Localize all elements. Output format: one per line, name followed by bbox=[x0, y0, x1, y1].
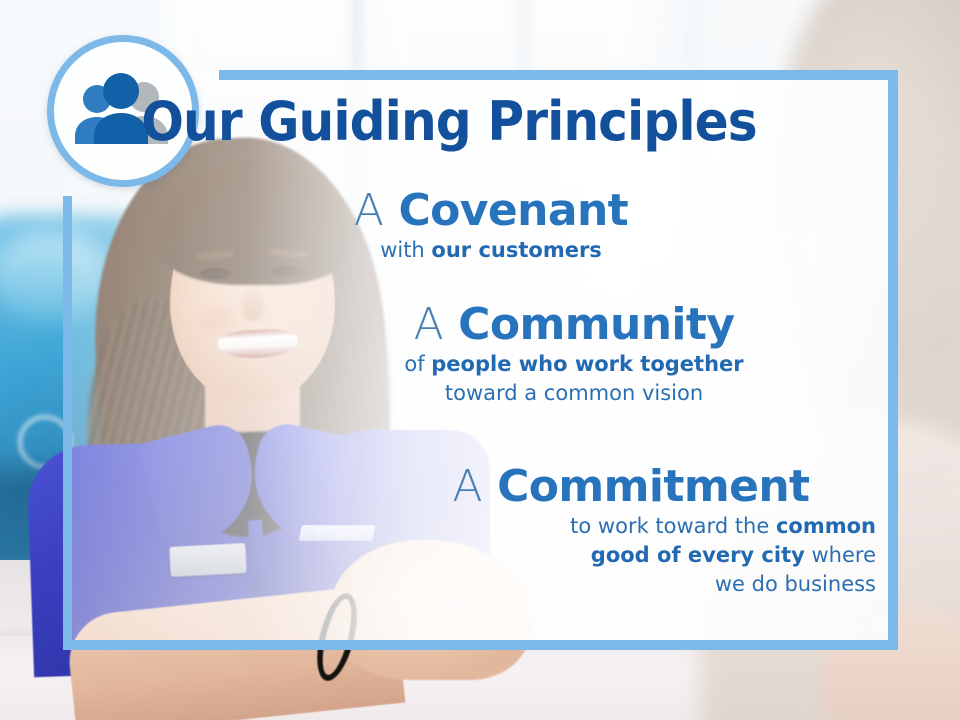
frame-border-left bbox=[63, 196, 72, 650]
chest-logo: FLOW bbox=[298, 525, 375, 541]
principle-commitment-article: A bbox=[453, 461, 484, 512]
principle-commitment-detail: to work toward the common good of every … bbox=[386, 512, 876, 599]
principle-community-article: A bbox=[414, 299, 445, 350]
frame-border-right bbox=[888, 70, 898, 650]
principle-community: A Community of people who work together … bbox=[336, 300, 812, 408]
principle-community-detail-plain: of bbox=[404, 352, 431, 376]
principle-covenant-keyword: Covenant bbox=[398, 185, 628, 236]
principle-commitment: A Commitment to work toward the common g… bbox=[386, 462, 876, 599]
principle-commitment-detail-line3: we do business bbox=[715, 572, 876, 596]
guiding-principles-graphic: FLOW Our Guiding Princip bbox=[0, 0, 960, 720]
associate-eye-right bbox=[272, 266, 303, 277]
principle-commitment-keyword: Commitment bbox=[497, 461, 809, 512]
principle-commitment-detail-line2-plain: where bbox=[805, 543, 876, 567]
page-title: Our Guiding Principles bbox=[31, 90, 866, 153]
frame-border-top bbox=[219, 70, 898, 80]
principle-community-detail-bold: people who work together bbox=[431, 352, 743, 376]
principle-covenant: A Covenant with our customers bbox=[296, 186, 686, 265]
frame-border-bottom bbox=[63, 640, 898, 650]
principle-covenant-article: A bbox=[354, 185, 385, 236]
principle-community-detail-line2: toward a common vision bbox=[445, 381, 703, 405]
principle-community-detail: of people who work together toward a com… bbox=[336, 350, 812, 408]
associate-eye-left bbox=[200, 268, 231, 279]
principle-commitment-heading: A Commitment bbox=[386, 462, 876, 512]
principle-covenant-heading: A Covenant bbox=[296, 186, 686, 236]
principle-community-keyword: Community bbox=[458, 299, 734, 350]
principle-covenant-detail: with our customers bbox=[296, 236, 686, 265]
principle-commitment-detail-line1-bold: common bbox=[776, 514, 876, 538]
principle-community-heading: A Community bbox=[336, 300, 812, 350]
principle-commitment-detail-line2-bold: good of every city bbox=[591, 543, 805, 567]
name-tag bbox=[169, 543, 246, 577]
principle-commitment-detail-line1-plain: to work toward the bbox=[570, 514, 776, 538]
principle-covenant-detail-bold: our customers bbox=[431, 238, 601, 262]
principle-covenant-detail-plain: with bbox=[380, 238, 431, 262]
associate-nose bbox=[243, 285, 263, 321]
